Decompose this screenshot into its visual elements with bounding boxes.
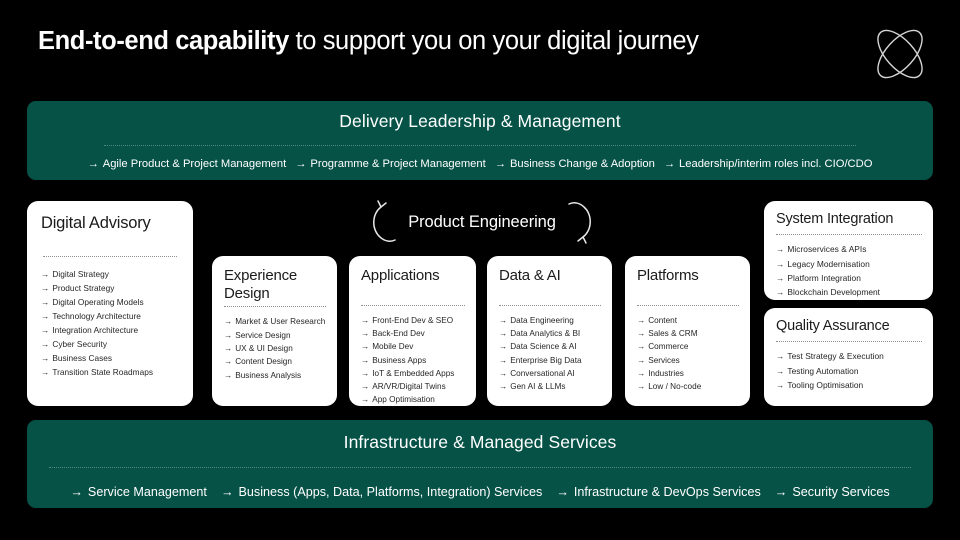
list-item-label: AR/VR/Digital Twins <box>372 382 445 391</box>
arrow-icon: → <box>499 329 507 338</box>
list-item[interactable]: →Content <box>637 314 739 327</box>
page-header: End-to-end capability to support you on … <box>0 0 960 96</box>
list-item[interactable]: →Service Design <box>224 329 326 342</box>
list-item-label: Test Strategy & Execution <box>787 351 883 361</box>
card-title: Digital Advisory <box>41 214 179 233</box>
list-item[interactable]: →Digital Strategy <box>41 268 179 282</box>
list-item-label: Low / No-code <box>648 382 701 391</box>
list-item[interactable]: →Low / No-code <box>637 380 739 393</box>
arrow-icon: → <box>776 366 784 376</box>
card-digital-advisory[interactable]: Digital Advisory →Digital Strategy →Prod… <box>27 201 193 406</box>
card-data-and-ai[interactable]: Data & AI →Data Engineering →Data Analyt… <box>487 256 612 406</box>
arrow-icon: → <box>295 158 306 170</box>
arrow-icon: → <box>41 283 49 293</box>
arrow-icon: → <box>637 382 645 391</box>
arrow-icon: → <box>70 485 83 499</box>
arrow-icon: → <box>495 158 506 170</box>
list-item-label: Sales & CRM <box>648 329 697 338</box>
arrow-icon: → <box>361 356 369 365</box>
arrow-icon: → <box>637 316 645 325</box>
banner-item-label: Business Change & Adoption <box>510 158 655 170</box>
banner-item[interactable]: →Business Change & Adoption <box>495 158 655 170</box>
card-experience-design[interactable]: Experience Design →Market & User Researc… <box>212 256 337 406</box>
banner-item[interactable]: →Business (Apps, Data, Platforms, Integr… <box>221 485 542 499</box>
list-item-label: Industries <box>648 369 684 378</box>
banner-item-label: Business (Apps, Data, Platforms, Integra… <box>239 485 543 499</box>
banner-item[interactable]: →Security Services <box>775 485 890 499</box>
list-item-label: Business Cases <box>52 353 112 363</box>
list-item[interactable]: →Services <box>637 354 739 367</box>
arrow-icon: → <box>224 344 232 353</box>
list-item[interactable]: →Digital Operating Models <box>41 296 179 310</box>
list-item-label: Microservices & APIs <box>787 244 866 254</box>
list-item-label: Commerce <box>648 342 688 351</box>
list-item[interactable]: →Market & User Research <box>224 315 326 328</box>
product-engineering-group: Product Engineering <box>364 198 600 246</box>
arrow-icon: → <box>88 158 99 170</box>
list-item[interactable]: →Test Strategy & Execution <box>776 349 922 363</box>
card-item-list: →Market & User Research →Service Design … <box>224 315 326 381</box>
list-item-label: UX & UI Design <box>235 344 293 353</box>
list-item[interactable]: →Content Design <box>224 355 326 368</box>
list-item[interactable]: →Front-End Dev & SEO <box>361 314 465 327</box>
arrow-icon: → <box>224 371 232 380</box>
list-item-label: Cyber Security <box>52 339 107 349</box>
infrastructure-managed-services-banner: Infrastructure & Managed Services →Servi… <box>27 420 933 508</box>
arrow-icon: → <box>637 369 645 378</box>
card-divider <box>361 305 465 306</box>
arrow-icon: → <box>499 316 507 325</box>
list-item-label: Front-End Dev & SEO <box>372 316 453 325</box>
arrow-icon: → <box>776 273 784 283</box>
arrow-icon: → <box>221 485 234 499</box>
list-item-label: Testing Automation <box>787 366 858 376</box>
arrow-icon: → <box>224 357 232 366</box>
card-title: Quality Assurance <box>776 318 922 335</box>
arrow-icon: → <box>556 485 569 499</box>
banner-item[interactable]: →Service Management <box>70 485 207 499</box>
arrow-icon: → <box>41 367 49 377</box>
card-title: Applications <box>361 267 465 285</box>
card-divider <box>637 305 739 306</box>
delivery-leadership-title: Delivery Leadership & Management <box>27 101 933 132</box>
list-item[interactable]: →Tooling Optimisation <box>776 378 922 392</box>
list-item-label: IoT & Embedded Apps <box>372 369 454 378</box>
banner-item[interactable]: →Infrastructure & DevOps Services <box>556 485 760 499</box>
banner-item-label: Service Management <box>88 485 207 499</box>
arrow-icon: → <box>637 356 645 365</box>
list-item-label: Content Design <box>235 357 292 366</box>
card-divider <box>776 341 922 342</box>
arrow-icon: → <box>664 158 675 170</box>
infrastructure-title: Infrastructure & Managed Services <box>27 420 933 453</box>
list-item[interactable]: →UX & UI Design <box>224 342 326 355</box>
arrow-icon: → <box>499 369 507 378</box>
list-item[interactable]: →Business Analysis <box>224 369 326 382</box>
card-platforms[interactable]: Platforms →Content →Sales & CRM →Commerc… <box>625 256 750 406</box>
card-title: Data & AI <box>499 267 601 285</box>
card-title: Experience Design <box>224 267 326 302</box>
card-divider <box>499 305 601 306</box>
list-item-label: Platform Integration <box>787 273 861 283</box>
list-item[interactable]: →Data Engineering <box>499 314 601 327</box>
card-title: System Integration <box>776 211 922 228</box>
arrow-icon: → <box>361 382 369 391</box>
list-item-label: Blockchain Development <box>787 287 880 297</box>
banner-item-label: Infrastructure & DevOps Services <box>574 485 761 499</box>
list-item-label: Data Analytics & BI <box>510 329 580 338</box>
crossed-ellipses-logo <box>866 20 934 88</box>
card-system-integration[interactable]: System Integration →Microservices & APIs… <box>764 201 933 300</box>
list-item[interactable]: →Business Cases <box>41 352 179 366</box>
arrow-icon: → <box>776 380 784 390</box>
arrow-icon: → <box>41 269 49 279</box>
list-item[interactable]: →Cyber Security <box>41 338 179 352</box>
delivery-leadership-items: →Agile Product & Project Management →Pro… <box>27 158 933 170</box>
arrow-icon: → <box>361 316 369 325</box>
list-item[interactable]: →App Optimisation <box>361 393 465 406</box>
list-item-label: Conversational AI <box>510 369 575 378</box>
list-item[interactable]: →Microservices & APIs <box>776 242 922 256</box>
list-item[interactable]: →Data Analytics & BI <box>499 327 601 340</box>
list-item[interactable]: →Mobile Dev <box>361 340 465 353</box>
list-item-label: Integration Architecture <box>52 325 138 335</box>
card-title: Platforms <box>637 267 739 285</box>
arrow-icon: → <box>637 342 645 351</box>
arrow-icon: → <box>224 317 232 326</box>
card-divider <box>776 234 922 235</box>
list-item[interactable]: →Technology Architecture <box>41 310 179 324</box>
page-title-emphasis: End-to-end capability <box>38 27 289 55</box>
arrow-icon: → <box>776 287 784 297</box>
list-item[interactable]: →Product Strategy <box>41 282 179 296</box>
arrow-icon: → <box>361 395 369 404</box>
list-item[interactable]: →IoT & Embedded Apps <box>361 367 465 380</box>
list-item-label: App Optimisation <box>372 395 435 404</box>
list-item-label: Business Apps <box>372 356 426 365</box>
banner-item-label: Security Services <box>792 485 889 499</box>
list-item-label: Services <box>648 356 680 365</box>
list-item-label: Service Design <box>235 331 290 340</box>
banner-item-label: Agile Product & Project Management <box>103 158 286 170</box>
list-item[interactable]: →Legacy Modernisation <box>776 257 922 271</box>
list-item-label: Legacy Modernisation <box>787 259 869 269</box>
banner-item[interactable]: →Agile Product & Project Management <box>88 158 287 170</box>
card-item-list: →Front-End Dev & SEO →Back-End Dev →Mobi… <box>361 314 465 407</box>
list-item-label: Digital Operating Models <box>52 297 143 307</box>
card-item-list: →Data Engineering →Data Analytics & BI →… <box>499 314 601 394</box>
arrow-icon: → <box>361 369 369 378</box>
list-item-label: Transition State Roadmaps <box>52 367 153 377</box>
card-divider <box>224 306 326 307</box>
arrow-icon: → <box>361 342 369 351</box>
arrow-icon: → <box>776 351 784 361</box>
list-item-label: Market & User Research <box>235 317 325 326</box>
list-item-label: Back-End Dev <box>372 329 425 338</box>
delivery-leadership-banner: Delivery Leadership & Management →Agile … <box>27 101 933 180</box>
list-item[interactable]: →Conversational AI <box>499 367 601 380</box>
list-item[interactable]: →Gen AI & LLMs <box>499 380 601 393</box>
list-item-label: Data Science & AI <box>510 342 576 351</box>
arrow-icon: → <box>776 244 784 254</box>
list-item-label: Business Analysis <box>235 371 301 380</box>
list-item[interactable]: →Back-End Dev <box>361 327 465 340</box>
infrastructure-items: →Service Management →Business (Apps, Dat… <box>27 485 933 499</box>
list-item-label: Technology Architecture <box>52 311 141 321</box>
arrow-icon: → <box>41 339 49 349</box>
arrow-icon: → <box>41 297 49 307</box>
arrow-icon: → <box>41 311 49 321</box>
list-item[interactable]: →Business Apps <box>361 354 465 367</box>
banner-divider <box>104 145 856 146</box>
list-item-label: Enterprise Big Data <box>510 356 581 365</box>
arrow-icon: → <box>224 331 232 340</box>
list-item-label: Content <box>648 316 677 325</box>
list-item[interactable]: →Transition State Roadmaps <box>41 366 179 380</box>
list-item-label: Tooling Optimisation <box>787 380 863 390</box>
list-item-label: Gen AI & LLMs <box>510 382 565 391</box>
card-item-list: →Digital Strategy →Product Strategy →Dig… <box>41 268 179 380</box>
card-item-list: →Test Strategy & Execution →Testing Auto… <box>776 349 922 392</box>
banner-item-label: Programme & Project Management <box>310 158 485 170</box>
page-title-rest: to support you on your digital journey <box>289 27 699 55</box>
arrow-icon: → <box>41 325 49 335</box>
product-engineering-label: Product Engineering <box>364 198 600 246</box>
card-item-list: →Microservices & APIs →Legacy Modernisat… <box>776 242 922 300</box>
list-item[interactable]: →Commerce <box>637 340 739 353</box>
arrow-icon: → <box>637 329 645 338</box>
arrow-icon: → <box>361 329 369 338</box>
card-applications[interactable]: Applications →Front-End Dev & SEO →Back-… <box>349 256 476 406</box>
banner-item[interactable]: →Leadership/interim roles incl. CIO/CDO <box>664 158 873 170</box>
list-item-label: Product Strategy <box>52 283 114 293</box>
arrow-icon: → <box>499 356 507 365</box>
list-item-label: Mobile Dev <box>372 342 413 351</box>
arrow-icon: → <box>776 259 784 269</box>
card-divider <box>43 256 177 257</box>
card-quality-assurance[interactable]: Quality Assurance →Test Strategy & Execu… <box>764 308 933 406</box>
list-item[interactable]: →Sales & CRM <box>637 327 739 340</box>
list-item[interactable]: →Platform Integration <box>776 271 922 285</box>
page-title: End-to-end capability to support you on … <box>38 27 699 56</box>
list-item[interactable]: →Enterprise Big Data <box>499 354 601 367</box>
list-item[interactable]: →Testing Automation <box>776 364 922 378</box>
banner-divider <box>49 467 911 468</box>
banner-item[interactable]: →Programme & Project Management <box>295 158 486 170</box>
list-item-label: Data Engineering <box>510 316 574 325</box>
card-item-list: →Content →Sales & CRM →Commerce →Service… <box>637 314 739 394</box>
arrow-icon: → <box>499 382 507 391</box>
list-item-label: Digital Strategy <box>52 269 109 279</box>
list-item[interactable]: →Integration Architecture <box>41 324 179 338</box>
arrow-icon: → <box>41 353 49 363</box>
list-item[interactable]: →AR/VR/Digital Twins <box>361 380 465 393</box>
list-item[interactable]: →Blockchain Development <box>776 285 922 299</box>
banner-item-label: Leadership/interim roles incl. CIO/CDO <box>679 158 872 170</box>
list-item[interactable]: →Data Science & AI <box>499 340 601 353</box>
arrow-icon: → <box>775 485 788 499</box>
list-item[interactable]: →Industries <box>637 367 739 380</box>
arrow-icon: → <box>499 342 507 351</box>
